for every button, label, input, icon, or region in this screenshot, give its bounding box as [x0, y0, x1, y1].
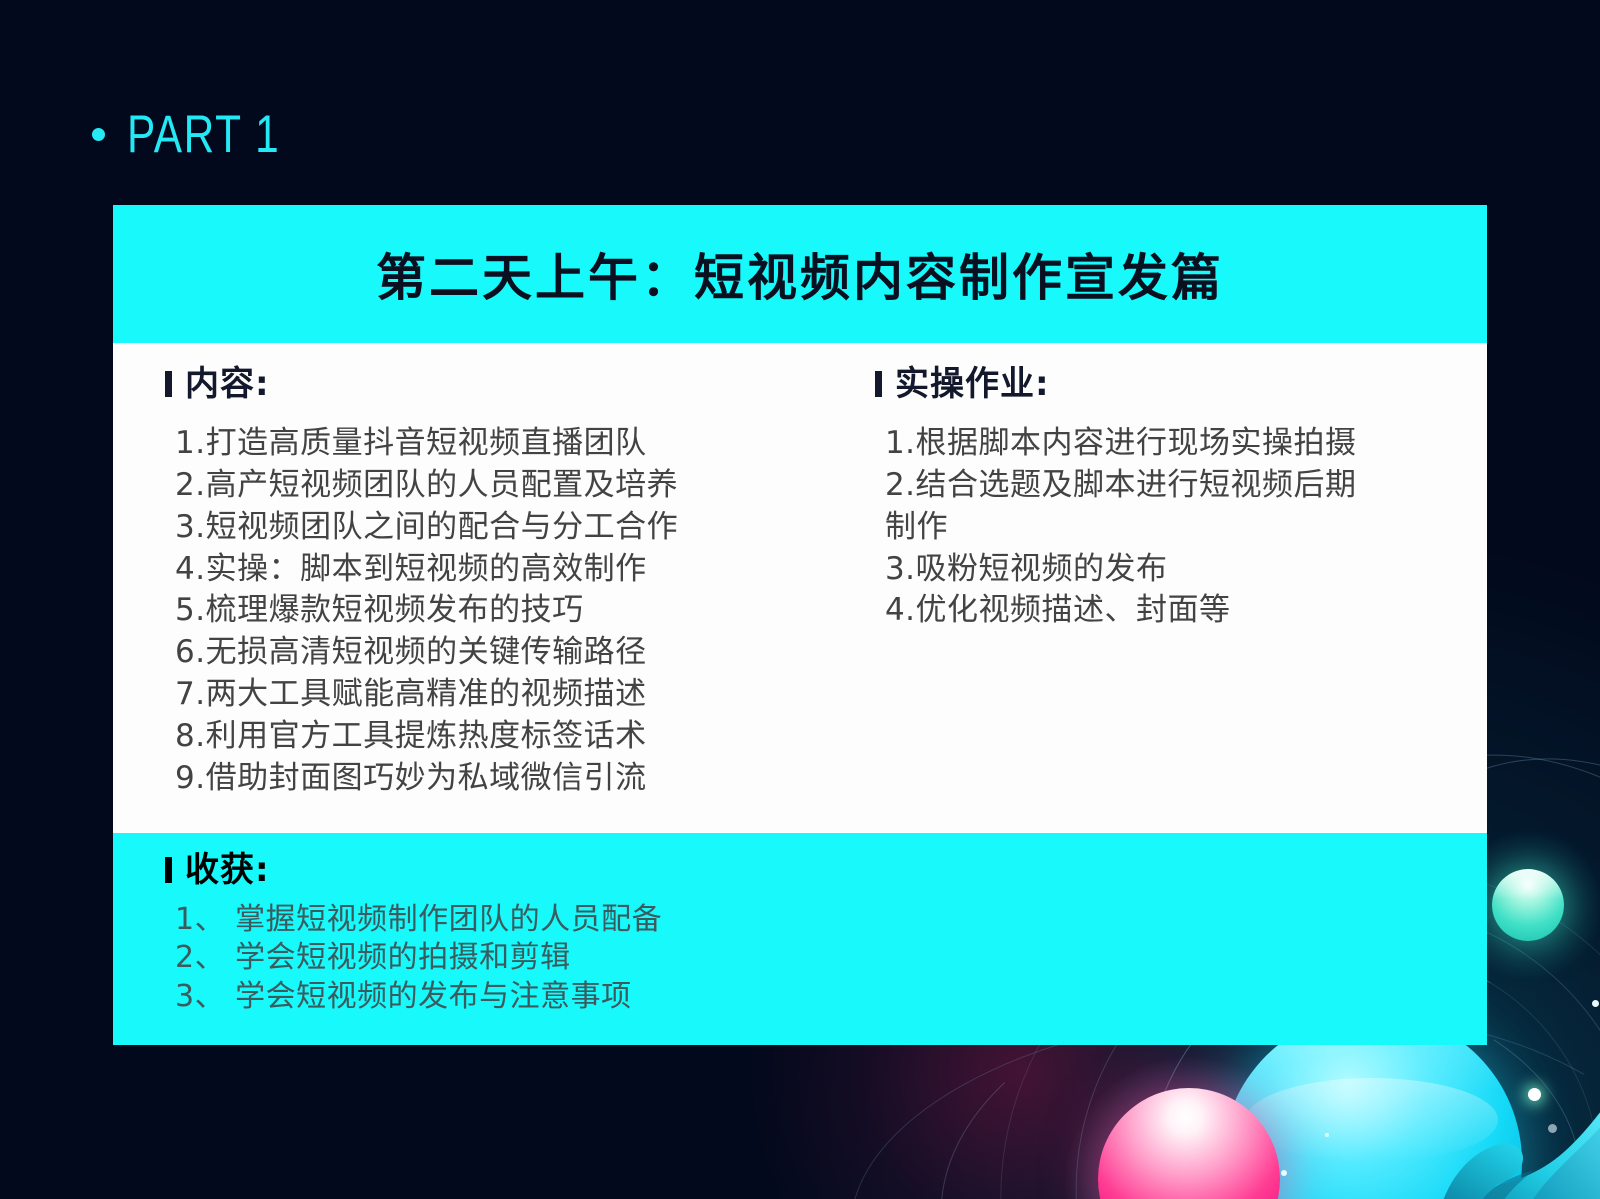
list-item: 2.高产短视频团队的人员配置及培养 [165, 465, 845, 507]
content-section-heading: 内容: [165, 367, 845, 401]
reaching-hand-icon [1430, 1082, 1600, 1199]
assignment-heading-label: 实操作业: [895, 367, 1050, 401]
section-mark-icon [165, 857, 172, 883]
list-item: 4.实操：脚本到短视频的高效制作 [165, 549, 845, 591]
section-mark-icon [875, 371, 882, 397]
list-item: 9.借助封面图巧妙为私域微信引流 [165, 758, 845, 800]
list-item: 3、 学会短视频的发布与注意事项 [165, 978, 1487, 1016]
assignment-column: 实操作业: 1.根据脚本内容进行现场实操拍摄 2.结合选题及脚本进行短视频后期 … [855, 367, 1487, 833]
section-mark-icon [165, 371, 172, 397]
list-item: 7.两大工具赋能高精准的视频描述 [165, 674, 845, 716]
list-item: 5.梳理爆款短视频发布的技巧 [165, 590, 845, 632]
list-item: 8.利用官方工具提炼热度标签话术 [165, 716, 845, 758]
gains-section: 收获: 1、 掌握短视频制作团队的人员配备 2、 学会短视频的拍摄和剪辑 3、 … [113, 833, 1487, 1045]
card-title: 第二天上午：短视频内容制作宣发篇 [376, 238, 1224, 310]
star-icon [1325, 1133, 1329, 1137]
list-item: 3.吸粉短视频的发布 [875, 549, 1457, 591]
gains-heading-label: 收获: [185, 853, 270, 887]
star-icon [1281, 1170, 1287, 1176]
content-item-list: 1.打造高质量抖音短视频直播团队 2.高产短视频团队的人员配置及培养 3.短视频… [165, 423, 845, 800]
list-item: 1.打造高质量抖音短视频直播团队 [165, 423, 845, 465]
list-item: 1.根据脚本内容进行现场实操拍摄 [875, 423, 1457, 465]
star-icon [1592, 1000, 1599, 1007]
content-column: 内容: 1.打造高质量抖音短视频直播团队 2.高产短视频团队的人员配置及培养 3… [113, 367, 855, 833]
gains-section-heading: 收获: [165, 853, 1487, 887]
gains-item-list: 1、 掌握短视频制作团队的人员配备 2、 学会短视频的拍摄和剪辑 3、 学会短视… [165, 901, 1487, 1016]
list-item: 1、 掌握短视频制作团队的人员配备 [165, 901, 1487, 939]
assignment-section-heading: 实操作业: [875, 367, 1457, 401]
card-title-bar: 第二天上午：短视频内容制作宣发篇 [113, 205, 1487, 343]
star-icon [1548, 1124, 1557, 1133]
planet-pink-icon [1098, 1088, 1280, 1199]
assignment-item-list: 1.根据脚本内容进行现场实操拍摄 2.结合选题及脚本进行短视频后期 制作 3.吸… [875, 423, 1457, 632]
list-item: 4.优化视频描述、封面等 [875, 590, 1457, 632]
content-heading-label: 内容: [185, 367, 270, 401]
content-card: 第二天上午：短视频内容制作宣发篇 内容: 1.打造高质量抖音短视频直播团队 2.… [113, 205, 1487, 1045]
planet-small-icon [1492, 869, 1564, 941]
part-label: PART 1 [127, 108, 280, 161]
part-heading: PART 1 [92, 108, 319, 161]
list-item: 6.无损高清短视频的关键传输路径 [165, 632, 845, 674]
list-item: 3.短视频团队之间的配合与分工合作 [165, 507, 845, 549]
list-item: 2、 学会短视频的拍摄和剪辑 [165, 939, 1487, 977]
slide-canvas: PART 1 第二天上午：短视频内容制作宣发篇 内容: 1.打造高质量抖音短视频… [0, 0, 1600, 1199]
card-body: 内容: 1.打造高质量抖音短视频直播团队 2.高产短视频团队的人员配置及培养 3… [113, 343, 1487, 833]
star-icon [1528, 1088, 1541, 1101]
planet-pink-halo [1066, 1058, 1314, 1199]
list-item: 2.结合选题及脚本进行短视频后期 制作 [875, 465, 1457, 549]
bullet-dot-icon [92, 128, 105, 141]
